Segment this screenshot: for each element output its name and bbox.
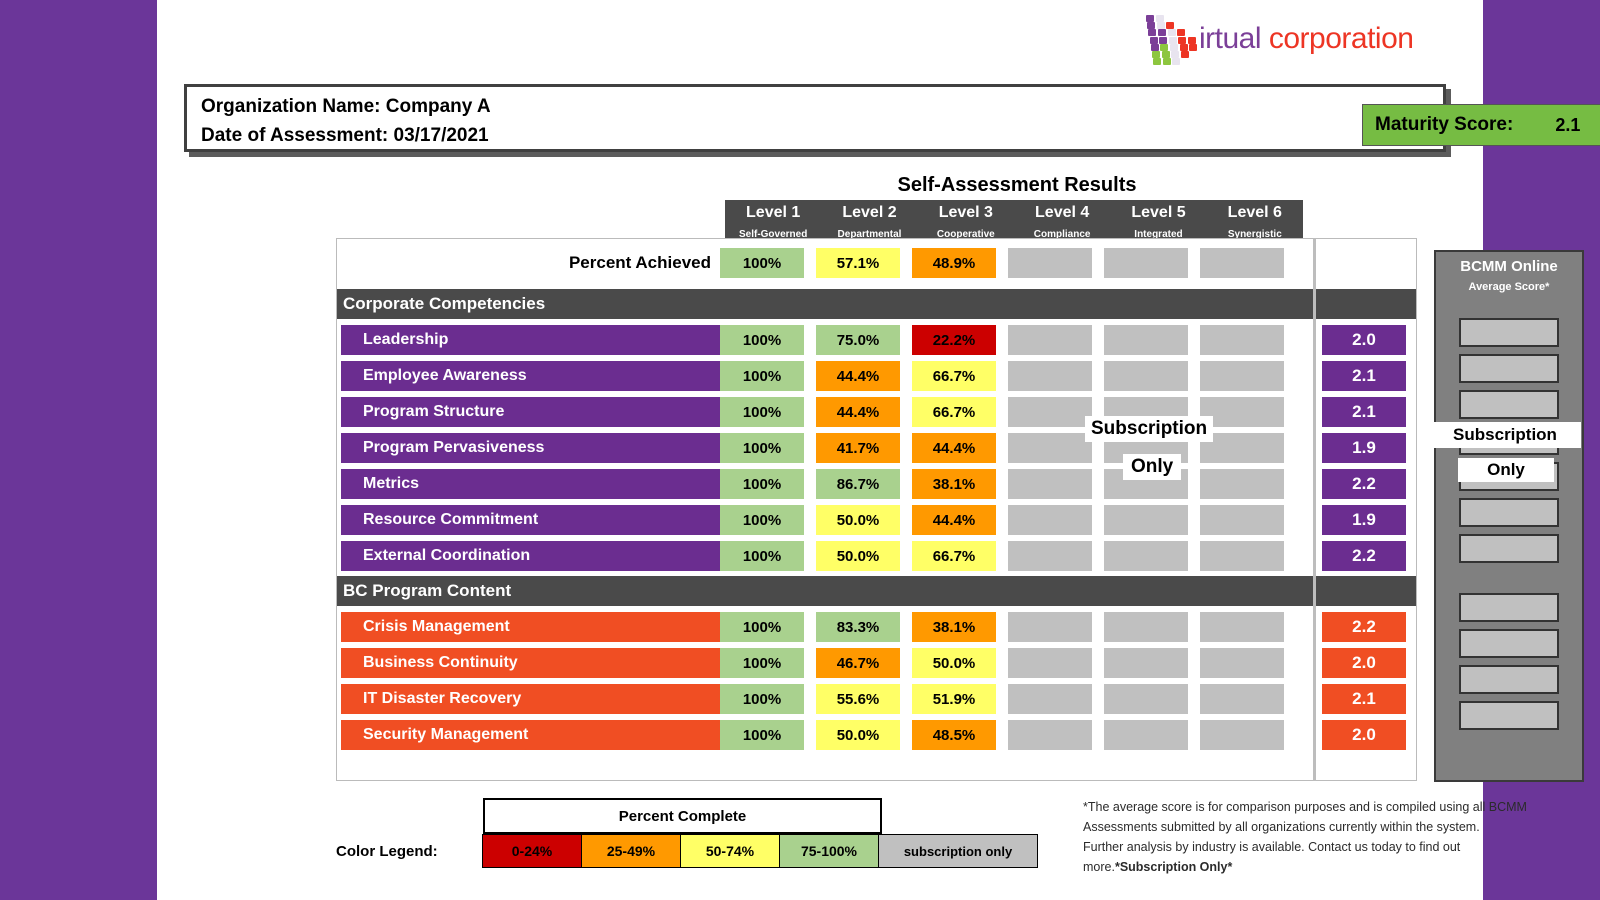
- score-cell-level-1: 100%: [720, 720, 804, 750]
- score-cell-level-1: 100%: [720, 433, 804, 463]
- logo-tile: [1152, 51, 1160, 58]
- score-cell-level-5: [1104, 505, 1188, 535]
- score-cell-level-6: [1200, 325, 1284, 355]
- footnote: *The average score is for comparison pur…: [1083, 797, 1600, 877]
- score-cells: 100%50.0%44.4%: [720, 505, 1296, 535]
- bcmm-score-slot-content-4: [1459, 701, 1559, 730]
- row-label: Resource Commitment: [341, 505, 720, 535]
- score-cells: 100%86.7%38.1%: [720, 469, 1296, 499]
- logo-tile: [1178, 37, 1186, 44]
- table-row: Program Structure100%44.4%66.7%2.1: [337, 394, 1416, 430]
- level-achieved-value: 2.2: [1322, 469, 1406, 499]
- level-achieved-value: 2.2: [1322, 612, 1406, 642]
- legend-swatch-2: 25-49%: [581, 834, 681, 868]
- logo-tile: [1180, 44, 1188, 51]
- legend-swatch-row: Color Legend: 0-24%25-49%50-74%75-100%su…: [336, 834, 1046, 868]
- score-cell-level-3: 22.2%: [912, 325, 996, 355]
- report-page: irtual corporation Organization Name: Co…: [157, 0, 1483, 900]
- score-cell-level-2: 50.0%: [816, 541, 900, 571]
- score-cell-level-4: [1008, 541, 1092, 571]
- legend-swatch-4: 75-100%: [779, 834, 879, 868]
- score-cell-level-4: [1008, 361, 1092, 391]
- logo-tile: [1181, 51, 1189, 58]
- row-label: External Coordination: [341, 541, 720, 571]
- logo-tile: [1158, 29, 1166, 36]
- color-legend: Percent Complete Color Legend: 0-24%25-4…: [336, 798, 1046, 870]
- logo-tile: [1150, 37, 1158, 44]
- score-cells: 100%46.7%50.0%: [720, 648, 1296, 678]
- score-cell-level-4: [1008, 469, 1092, 499]
- score-cell-level-5: [1104, 325, 1188, 355]
- score-cell-level-5: [1104, 361, 1188, 391]
- score-cells: 100%44.4%66.7%: [720, 361, 1296, 391]
- table-row: IT Disaster Recovery100%55.6%51.9%2.1: [337, 681, 1416, 717]
- bcmm-score-slot-1: [1459, 318, 1559, 347]
- logo-tile: [1172, 58, 1180, 65]
- logo-mark-icon: [1132, 13, 1198, 65]
- legend-swatch-3: 50-74%: [680, 834, 780, 868]
- bcmm-subscription-overlay-line1: Subscription: [1429, 422, 1581, 448]
- column-separator: [1313, 238, 1316, 781]
- logo-tile: [1169, 37, 1177, 44]
- level-header-name: Level 5: [1131, 204, 1185, 222]
- logo-tile: [1156, 15, 1164, 22]
- percent-achieved-row: Percent Achieved100%57.1%48.9%: [337, 239, 1416, 287]
- logo-tile: [1159, 37, 1167, 44]
- logo-tile: [1151, 44, 1159, 51]
- legend-swatch-1: 0-24%: [482, 834, 582, 868]
- score-cell-level-3: 48.9%: [912, 248, 996, 278]
- score-cell-level-3: 44.4%: [912, 505, 996, 535]
- score-cell-level-6: [1200, 248, 1284, 278]
- row-label: Program Structure: [341, 397, 720, 427]
- footnote-line-3: Further analysis by industry is availabl…: [1083, 837, 1600, 857]
- score-cell-level-1: 100%: [720, 648, 804, 678]
- score-cell-level-4: [1008, 648, 1092, 678]
- score-cell-level-3: 38.1%: [912, 612, 996, 642]
- score-cell-level-6: [1200, 684, 1284, 714]
- level-achieved-value: 2.1: [1322, 684, 1406, 714]
- row-label: Leadership: [341, 325, 720, 355]
- score-cell-level-2: 86.7%: [816, 469, 900, 499]
- table-subscription-overlay-line2: Only: [1123, 454, 1181, 480]
- virtual-corporation-logo: irtual corporation: [1132, 8, 1422, 70]
- table-row: Metrics100%86.7%38.1%2.2: [337, 466, 1416, 502]
- bcmm-score-slot-content-3: [1459, 665, 1559, 694]
- score-cell-level-4: [1008, 720, 1092, 750]
- level-achieved-value: 2.1: [1322, 361, 1406, 391]
- score-cell-level-2: 44.4%: [816, 397, 900, 427]
- section-header-1: Corporate Competencies: [337, 289, 1416, 319]
- table-row: Crisis Management100%83.3%38.1%2.2: [337, 609, 1416, 645]
- bcmm-score-slot-3: [1459, 390, 1559, 419]
- score-cell-level-1: 100%: [720, 612, 804, 642]
- logo-tile: [1162, 51, 1170, 58]
- maturity-score-label: Maturity Score:: [1375, 114, 1513, 136]
- row-label: Security Management: [341, 720, 720, 750]
- footnote-line-2: Assessments submitted by all organizatio…: [1083, 817, 1600, 837]
- level-achieved-value: 1.9: [1322, 505, 1406, 535]
- row-label: Employee Awareness: [341, 361, 720, 391]
- assessment-date-line: Date of Assessment: 03/17/2021: [201, 125, 489, 147]
- score-cell-level-5: [1104, 612, 1188, 642]
- logo-tile: [1146, 15, 1154, 22]
- score-cell-level-4: [1008, 325, 1092, 355]
- score-cell-level-5: [1104, 684, 1188, 714]
- organization-name-line: Organization Name: Company A: [201, 96, 491, 118]
- logo-tile: [1177, 29, 1185, 36]
- level-header-name: Level 3: [939, 204, 993, 222]
- score-cells: 100%83.3%38.1%: [720, 612, 1296, 642]
- logo-tile: [1188, 37, 1196, 44]
- score-cells: 100%50.0%48.5%: [720, 720, 1296, 750]
- organization-header-box: Organization Name: Company A Date of Ass…: [184, 84, 1446, 152]
- score-cell-level-2: 44.4%: [816, 361, 900, 391]
- row-label: Metrics: [341, 469, 720, 499]
- bcmm-score-slot-content-1: [1459, 593, 1559, 622]
- logo-word-virtual: irtual: [1199, 22, 1261, 55]
- row-label: IT Disaster Recovery: [341, 684, 720, 714]
- score-cell-level-2: 41.7%: [816, 433, 900, 463]
- row-label: Crisis Management: [341, 612, 720, 642]
- legend-swatch-5: subscription only: [878, 834, 1038, 868]
- score-cell-level-1: 100%: [720, 684, 804, 714]
- logo-tile: [1160, 44, 1168, 51]
- level-achieved-value: 1.9: [1322, 433, 1406, 463]
- bcmm-score-slot-content-2: [1459, 629, 1559, 658]
- score-cell-level-3: 50.0%: [912, 648, 996, 678]
- section-header-label: Corporate Competencies: [337, 294, 545, 314]
- table-subscription-overlay-line1: Subscription: [1085, 416, 1213, 442]
- table-row: Program Pervasiveness100%41.7%44.4%1.9: [337, 430, 1416, 466]
- level-header-name: Level 1: [746, 204, 800, 222]
- section-header-2: BC Program Content: [337, 576, 1416, 606]
- score-cell-level-5: [1104, 541, 1188, 571]
- score-cells: 100%55.6%51.9%: [720, 684, 1296, 714]
- score-cell-level-3: 38.1%: [912, 469, 996, 499]
- table-row: Resource Commitment100%50.0%44.4%1.9: [337, 502, 1416, 538]
- score-cell-level-6: [1200, 612, 1284, 642]
- level-header-name: Level 4: [1035, 204, 1089, 222]
- score-cells: 100%75.0%22.2%: [720, 325, 1296, 355]
- score-cell-level-5: [1104, 720, 1188, 750]
- score-cell-level-1: 100%: [720, 248, 804, 278]
- logo-tile: [1168, 29, 1176, 36]
- logo-tile: [1170, 44, 1178, 51]
- level-achieved-blank: [1322, 248, 1406, 278]
- legend-title: Percent Complete: [483, 798, 882, 834]
- page-title: Self-Assessment Results: [717, 174, 1317, 197]
- score-cell-level-4: [1008, 248, 1092, 278]
- score-cell-level-3: 66.7%: [912, 397, 996, 427]
- table-row: Security Management100%50.0%48.5%2.0: [337, 717, 1416, 753]
- level-achieved-value: 2.1: [1322, 397, 1406, 427]
- score-cell-level-2: 50.0%: [816, 505, 900, 535]
- logo-tile: [1157, 22, 1165, 29]
- score-cell-level-4: [1008, 505, 1092, 535]
- row-label: Program Pervasiveness: [341, 433, 720, 463]
- score-cell-level-3: 51.9%: [912, 684, 996, 714]
- logo-tile: [1171, 51, 1179, 58]
- score-cell-level-6: [1200, 469, 1284, 499]
- logo-tile: [1148, 29, 1156, 36]
- footnote-line-4: more.*Subscription Only*: [1083, 857, 1600, 877]
- score-cell-level-2: 75.0%: [816, 325, 900, 355]
- table-row: External Coordination100%50.0%66.7%2.2: [337, 538, 1416, 574]
- row-label: Business Continuity: [341, 648, 720, 678]
- level-achieved-value: 2.0: [1322, 648, 1406, 678]
- legend-label: Color Legend:: [336, 834, 483, 868]
- score-cell-level-3: 48.5%: [912, 720, 996, 750]
- logo-tile: [1147, 22, 1155, 29]
- percent-achieved-label: Percent Achieved: [341, 248, 720, 278]
- score-cell-level-1: 100%: [720, 397, 804, 427]
- logo-tile: [1166, 22, 1174, 29]
- bcmm-score-slot-6: [1459, 498, 1559, 527]
- section-header-label: BC Program Content: [337, 581, 511, 601]
- score-cell-level-2: 57.1%: [816, 248, 900, 278]
- footnote-line-4-plain: more.: [1083, 860, 1115, 874]
- score-cells: 100%50.0%66.7%: [720, 541, 1296, 571]
- logo-tile: [1189, 44, 1197, 51]
- score-cell-level-2: 83.3%: [816, 612, 900, 642]
- logo-word-corporation: corporation: [1261, 22, 1413, 55]
- score-cell-level-4: [1008, 612, 1092, 642]
- score-cell-level-1: 100%: [720, 541, 804, 571]
- score-cell-level-6: [1200, 505, 1284, 535]
- table-row: Leadership100%75.0%22.2%2.0: [337, 322, 1416, 358]
- table-row: Business Continuity100%46.7%50.0%2.0: [337, 645, 1416, 681]
- footnote-line-4-bold: *Subscription Only*: [1115, 860, 1232, 874]
- level-achieved-value: 2.0: [1322, 720, 1406, 750]
- score-cell-level-1: 100%: [720, 361, 804, 391]
- score-cell-level-6: [1200, 648, 1284, 678]
- level-header-name: Level 6: [1228, 204, 1282, 222]
- score-cell-level-4: [1008, 397, 1092, 427]
- score-cell-level-4: [1008, 684, 1092, 714]
- score-cell-level-6: [1200, 541, 1284, 571]
- score-cell-level-4: [1008, 433, 1092, 463]
- bcmm-subscription-overlay-line2: Only: [1458, 458, 1554, 482]
- bcmm-panel-subtitle: Average Score*: [1436, 281, 1582, 293]
- score-cells: 100%57.1%48.9%: [720, 248, 1296, 278]
- bcmm-panel-title: BCMM Online: [1436, 258, 1582, 275]
- logo-wordmark: irtual corporation: [1199, 22, 1413, 56]
- bcmm-score-slot-2: [1459, 354, 1559, 383]
- score-cell-level-2: 46.7%: [816, 648, 900, 678]
- level-achieved-value: 2.0: [1322, 325, 1406, 355]
- bcmm-slot-group-content: [1436, 593, 1582, 730]
- score-cell-level-2: 50.0%: [816, 720, 900, 750]
- logo-tile: [1153, 58, 1161, 65]
- score-cell-level-5: [1104, 248, 1188, 278]
- score-cell-level-6: [1200, 720, 1284, 750]
- score-cell-level-3: 66.7%: [912, 541, 996, 571]
- score-cell-level-5: [1104, 648, 1188, 678]
- score-cell-level-3: 44.4%: [912, 433, 996, 463]
- score-cell-level-1: 100%: [720, 325, 804, 355]
- level-achieved-value: 2.2: [1322, 541, 1406, 571]
- results-table: Percent Achieved100%57.1%48.9%Corporate …: [336, 238, 1417, 781]
- bcmm-score-slot-7: [1459, 534, 1559, 563]
- score-cell-level-3: 66.7%: [912, 361, 996, 391]
- maturity-score-value: 2.1: [1555, 115, 1580, 136]
- maturity-score-box: Maturity Score: 2.1: [1362, 104, 1600, 146]
- score-cell-level-1: 100%: [720, 505, 804, 535]
- bcmm-online-panel: BCMM Online Average Score* Subscription …: [1434, 250, 1584, 782]
- table-row: Employee Awareness100%44.4%66.7%2.1: [337, 358, 1416, 394]
- level-header-name: Level 2: [842, 204, 896, 222]
- score-cell-level-1: 100%: [720, 469, 804, 499]
- logo-tile: [1163, 58, 1171, 65]
- score-cell-level-2: 55.6%: [816, 684, 900, 714]
- footnote-line-1: *The average score is for comparison pur…: [1083, 797, 1600, 817]
- score-cell-level-6: [1200, 361, 1284, 391]
